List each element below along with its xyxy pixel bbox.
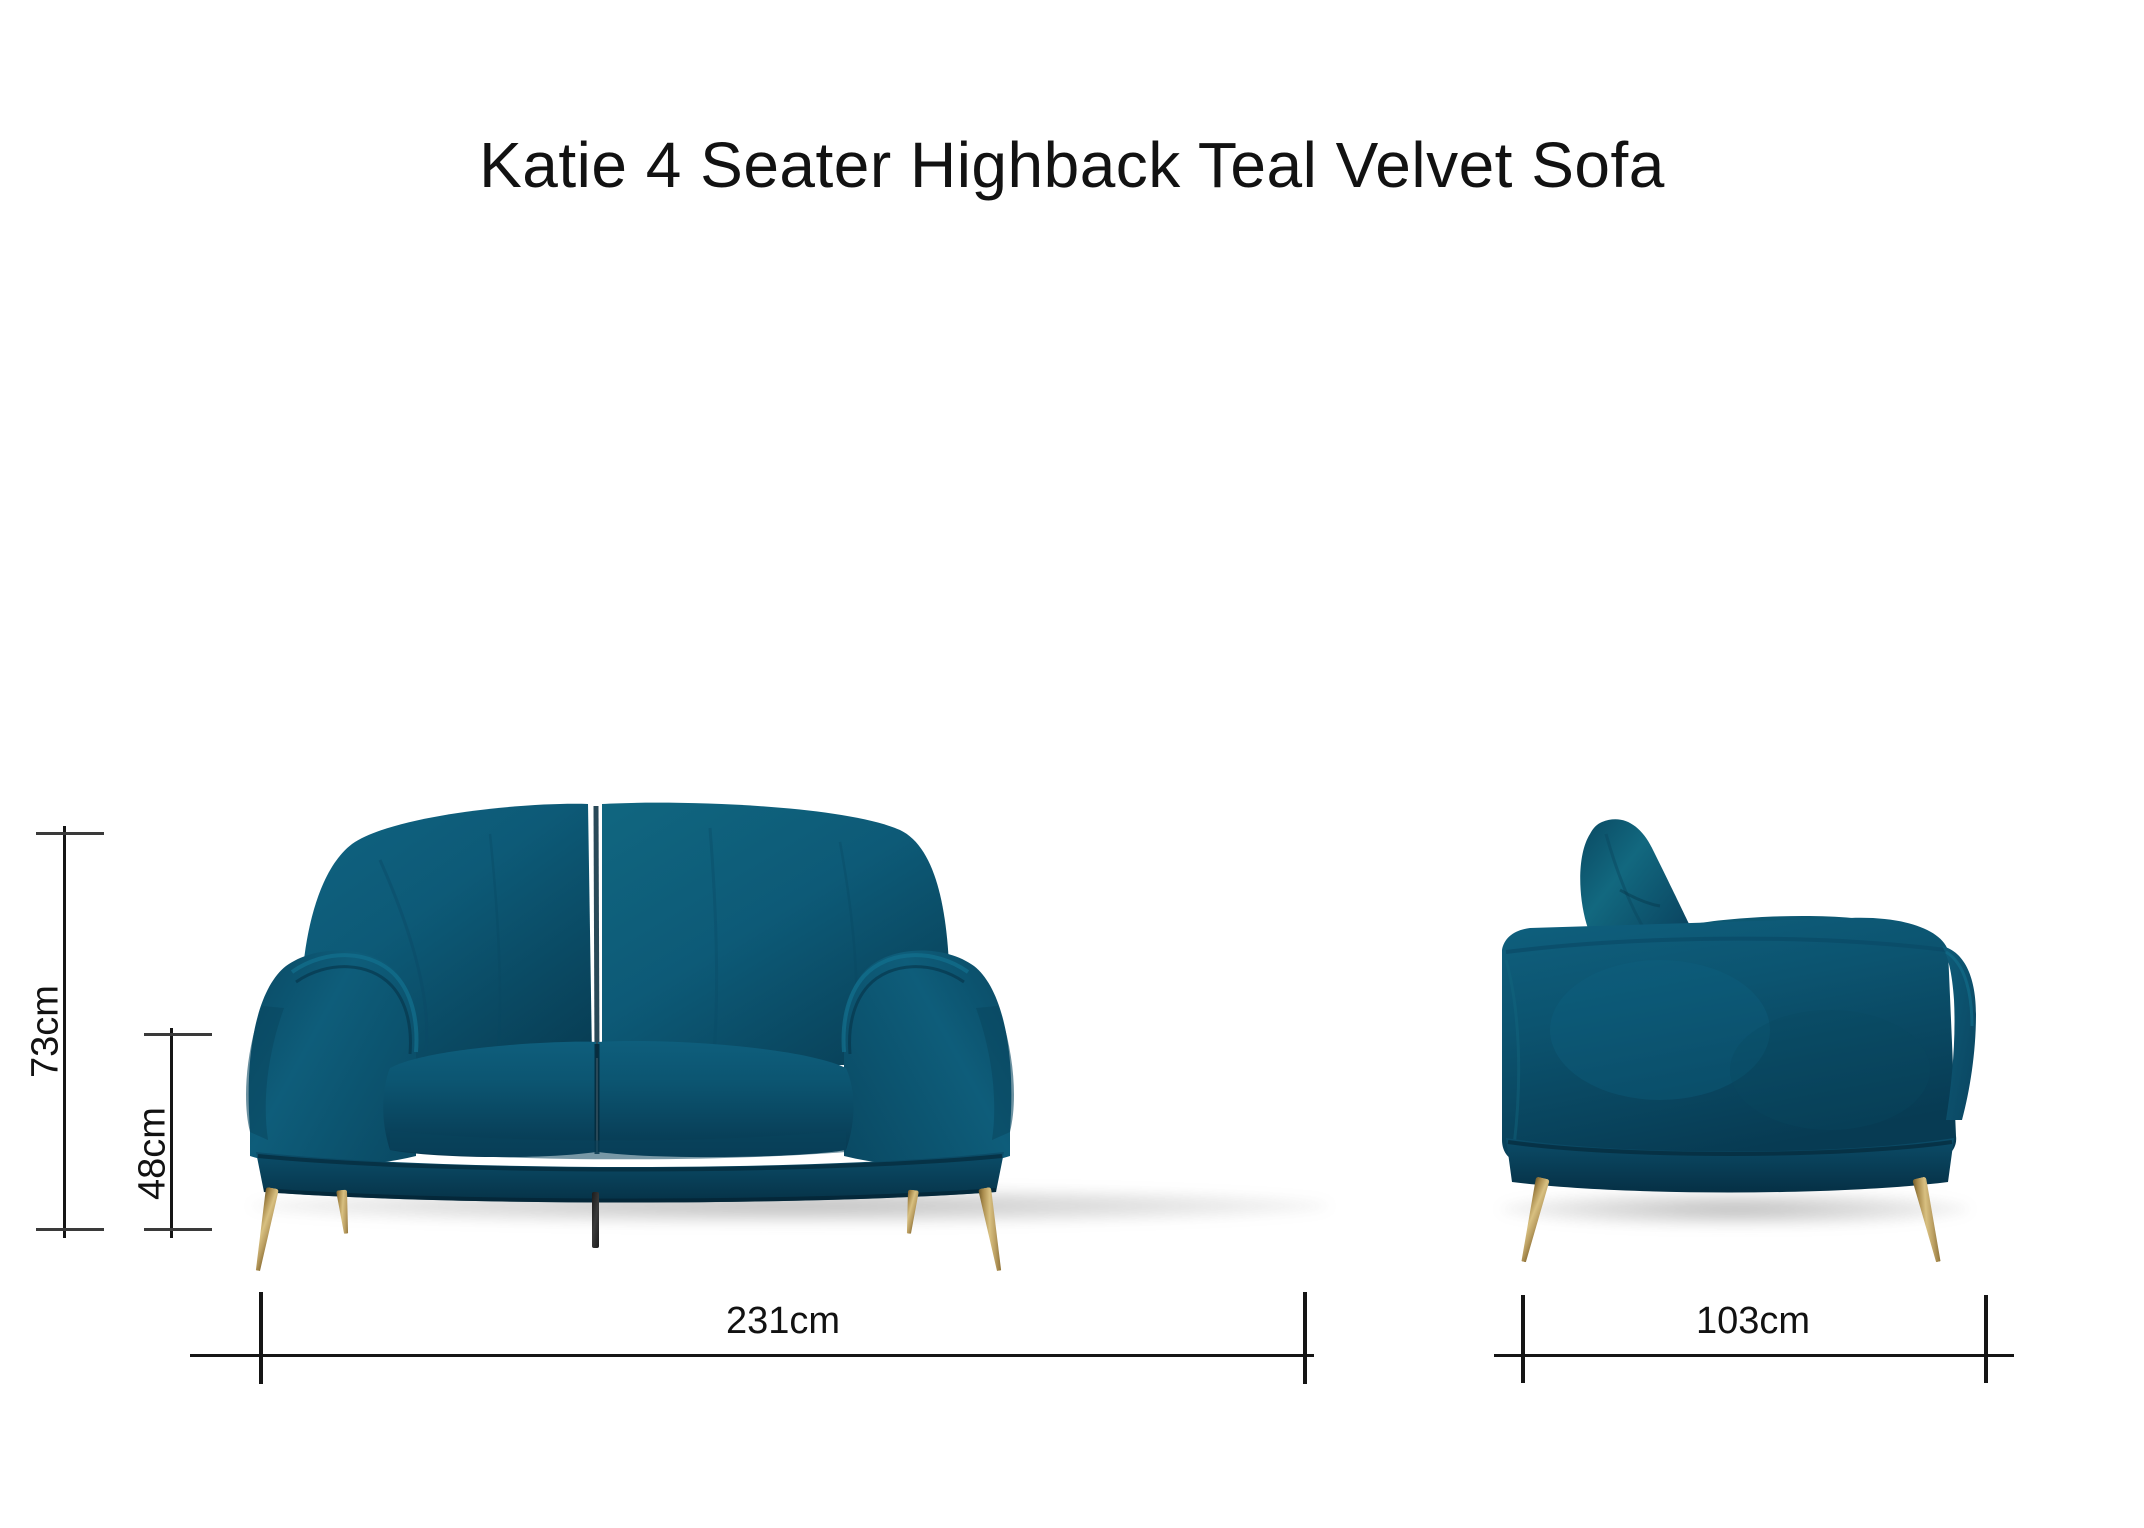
height-dimension-label: 73cm (25, 952, 68, 1112)
width-dimension-line (190, 1354, 1314, 1357)
page-title: Katie 4 Seater Highback Teal Velvet Sofa (0, 128, 2144, 202)
width-tick-right (1303, 1292, 1307, 1384)
side-view-sofa-graphic (1480, 800, 2000, 1290)
width-tick-left (259, 1292, 263, 1384)
depth-dimension-label: 103cm (1633, 1300, 1873, 1343)
product-dimension-diagram: Katie 4 Seater Highback Teal Velvet Sofa (0, 0, 2144, 1528)
depth-tick-left (1521, 1295, 1525, 1383)
height-tick-top (36, 832, 104, 835)
seat-height-tick-top (144, 1033, 212, 1036)
depth-tick-right (1984, 1295, 1988, 1383)
height-tick-bottom (36, 1228, 104, 1231)
width-dimension-label: 231cm (663, 1300, 903, 1343)
front-leg-center (592, 1192, 599, 1248)
depth-dimension-line (1494, 1354, 2014, 1357)
seat-height-dimension-label: 48cm (132, 1074, 175, 1234)
side-view-sofa (1480, 800, 2000, 1290)
front-view-sofa-graphic (240, 800, 1340, 1280)
front-view-sofa (240, 800, 1340, 1280)
